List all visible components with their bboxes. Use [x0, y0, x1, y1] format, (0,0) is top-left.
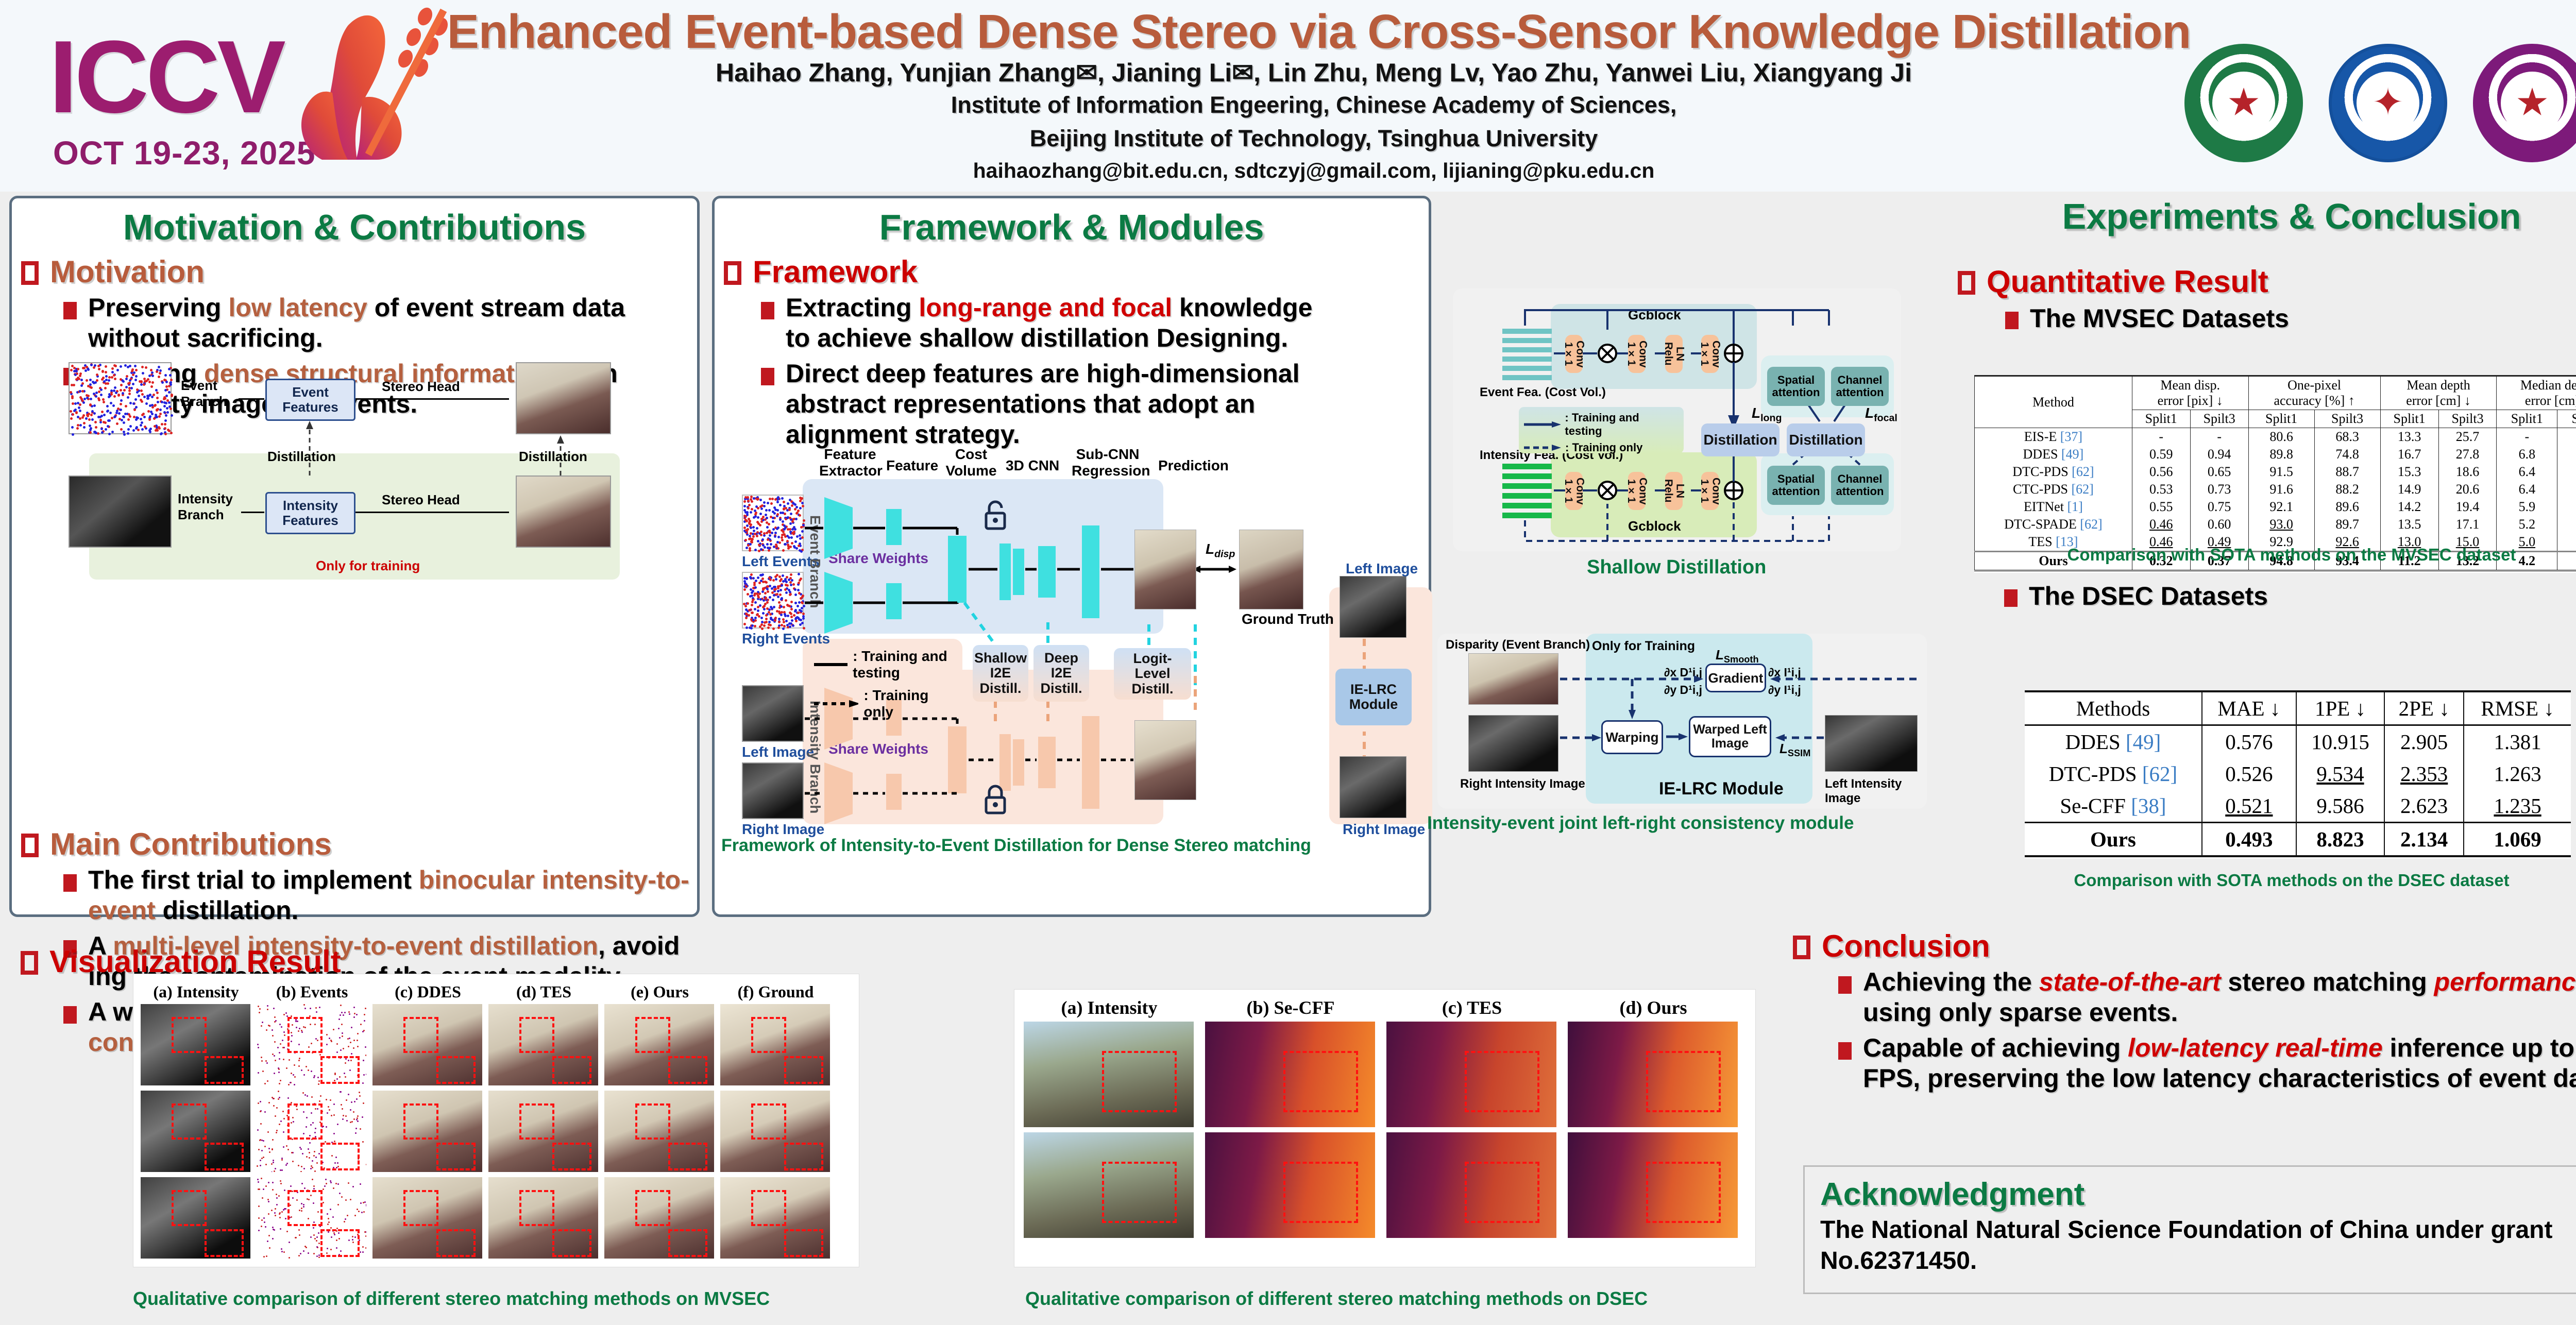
- vis-thumbnail: [141, 1004, 250, 1085]
- op-conv2-bottom: Conv 1×1: [1628, 472, 1646, 510]
- vis-thumbnail: [372, 1004, 482, 1085]
- cell-method: Ours: [2025, 823, 2202, 857]
- vis-column-label: (d) Ours: [1568, 997, 1739, 1018]
- bullet-square-icon: [1838, 976, 1852, 994]
- highlight-box: [1102, 1162, 1177, 1223]
- cell-value: 0.526: [2202, 758, 2296, 790]
- channel-attention-bottom: Channel attention: [1831, 466, 1889, 505]
- sub-split1: Split1: [2497, 410, 2557, 428]
- cell-value: 15.3: [2380, 463, 2438, 481]
- cell-value: 19.4: [2438, 498, 2497, 516]
- cell-value: 5.2: [2497, 516, 2557, 533]
- loss-long-label: Llong: [1752, 405, 1782, 424]
- dashed-arrow-icon: [814, 700, 858, 708]
- list-item: Capable of achieving low-latency real-ti…: [1838, 1033, 2576, 1094]
- cell-value: 68.3: [2314, 428, 2380, 446]
- vis-column-label: (b) Events: [257, 982, 367, 1001]
- vis-column-label: (a) Intensity: [1024, 997, 1195, 1018]
- cell-value: 13.3: [2380, 428, 2438, 446]
- affiliation-line-2: Beijing Institute of Technology, Tsinghu…: [670, 125, 1958, 152]
- framework-legend: : Training and testing : Training only: [814, 648, 958, 720]
- cell-value: 1.381: [2464, 725, 2571, 758]
- sub-split1: Split1: [2380, 410, 2438, 428]
- vis-thumbnail: [1205, 1022, 1375, 1127]
- cell-value: 17.1: [2438, 516, 2497, 533]
- solid-arrow-icon: [814, 660, 848, 669]
- bullet-square-icon: [63, 1006, 77, 1024]
- col-one-pixel: One-pixelaccuracy [%] ↑: [2248, 376, 2380, 410]
- highlight-box: [320, 1229, 360, 1257]
- cell-value: 0.75: [2190, 498, 2248, 516]
- highlight-box: [287, 1103, 323, 1140]
- highlight-box: [287, 1017, 323, 1053]
- shallow-distillation-diagram: Gcblock Gcblock: [1453, 288, 1901, 582]
- ground-truth-thumbnail: [1239, 530, 1303, 609]
- vis-thumbnail: [604, 1004, 714, 1085]
- cell-value: 88.2: [2314, 481, 2380, 498]
- pred-intensity-thumbnail: [1134, 720, 1196, 800]
- conclusion-bullets: Achieving the state-of-the-art stereo ma…: [1838, 967, 2576, 1094]
- cell-value: 10.915: [2296, 725, 2384, 758]
- vis-thumbnail: [488, 1004, 598, 1085]
- highlight-box: [635, 1190, 670, 1226]
- highlight-box: [320, 1143, 360, 1170]
- lock-open-icon: [982, 499, 1009, 531]
- cell-value: 5.9: [2497, 498, 2557, 516]
- vis-thumbnail: [257, 1177, 366, 1259]
- cell-value: 14.2: [2380, 498, 2438, 516]
- table-row: DDES [49]0.57610.9152.9051.381: [2025, 725, 2571, 758]
- vis-thumbnail: [1568, 1022, 1738, 1127]
- ielrc-diagram: Disparity (Event Branch) Right Intensity…: [1437, 634, 1927, 850]
- cell-value: 8.823: [2296, 823, 2384, 857]
- conclusion-section-header: Conclusion: [1793, 928, 2576, 964]
- cell-value: -: [2132, 428, 2190, 446]
- vis-thumbnail: [141, 1177, 250, 1259]
- cell-value: -: [2190, 428, 2248, 446]
- mvsec-results-table: Method Mean disp.error [pix] ↓ One-pixel…: [1974, 375, 2576, 573]
- table-row: EITNet [1]0.550.7592.189.614.219.45.910.…: [1975, 498, 2576, 516]
- distillation-label-right: Distillation: [519, 449, 587, 465]
- col-2pe: 2PE ↓: [2384, 691, 2464, 725]
- bullet-square-icon: [63, 302, 77, 319]
- highlight-box: [287, 1190, 323, 1226]
- motivation-contributions-panel: Motivation & Contributions Motivation Pr…: [9, 196, 700, 917]
- highlight-box: [519, 1017, 554, 1053]
- sub-split1: Split1: [2132, 410, 2190, 428]
- module-logit-level: Logit-Level Distill.: [1114, 648, 1191, 700]
- op-conv3-top: Conv 1×1: [1701, 335, 1719, 373]
- highlight-box: [205, 1056, 244, 1084]
- highlight-box: [751, 1103, 786, 1140]
- cell-value: 0.73: [2190, 481, 2248, 498]
- highlight-box: [436, 1143, 476, 1170]
- cell-value: 6.4: [2497, 463, 2557, 481]
- distillation-box-focal: Distillation: [1787, 423, 1865, 456]
- op-lnrelu-top: LN Relu: [1665, 335, 1683, 373]
- vis-column-label: (b) Se-CFF: [1205, 997, 1376, 1018]
- author-list: Haihao Zhang, Yunjian Zhang✉, Jianing Li…: [670, 58, 1958, 88]
- cell-value: 91.5: [2248, 463, 2314, 481]
- framework-bullets: Extracting long-range and focal knowledg…: [761, 293, 1343, 450]
- highlight-box: [403, 1103, 438, 1140]
- sub-split1: Split1: [2248, 410, 2314, 428]
- channel-attention-top: Channel attention: [1831, 367, 1889, 406]
- cell-value: 2.623: [2384, 790, 2464, 823]
- cell-value: 1.069: [2464, 823, 2571, 857]
- op-conv1-bottom: Conv 1×1: [1565, 472, 1583, 510]
- motivation-figure: EventBranch Event Features Stereo Head I…: [63, 353, 671, 595]
- highlight-box: [1465, 1051, 1539, 1112]
- cell-value: 0.65: [2190, 463, 2248, 481]
- dashed-arrow-icon: [1524, 444, 1561, 451]
- dsec-visualization-caption: Qualitative comparison of different ster…: [1025, 1288, 1648, 1310]
- motivation-section-header: Motivation: [21, 254, 697, 290]
- mid-panel-heading: Framework & Modules: [715, 198, 1429, 248]
- cell-value: 0.55: [2132, 498, 2190, 516]
- prediction-thumbnail: [1134, 530, 1196, 609]
- table-row: DTC-SPADE [62]0.460.6093.089.713.517.15.…: [1975, 516, 2576, 533]
- ielrc-right-image-thumb: [1340, 756, 1406, 818]
- legend-label-training-only: : Training only: [1565, 441, 1642, 454]
- cell-value: 80.6: [2248, 428, 2314, 446]
- vis-thumbnail: [372, 1091, 482, 1172]
- op-conv1-top: Conv 1×1: [1565, 335, 1583, 373]
- distillation-label-left: Distillation: [267, 449, 336, 465]
- highlight-box: [1283, 1162, 1358, 1223]
- legend-label-training-testing: : Training and testing: [853, 648, 958, 681]
- cas-logo: ✦: [2329, 44, 2447, 162]
- vis-thumbnail: [720, 1177, 830, 1259]
- vis-thumbnail: [1386, 1022, 1556, 1127]
- cell-value: 88.7: [2314, 463, 2380, 481]
- ielrc-right-image-label: Right Image: [1343, 821, 1425, 838]
- highlight-box: [172, 1017, 207, 1053]
- bullet-square-icon: [761, 302, 774, 319]
- sub-spilt3: Spilt3: [2190, 410, 2248, 428]
- square-marker-icon: [724, 261, 741, 285]
- highlight-box: [668, 1056, 708, 1084]
- framework-figure-caption: Framework of Intensity-to-Event Distilla…: [721, 836, 1311, 856]
- vis-column-label: (c) TES: [1386, 997, 1557, 1018]
- vis-column-label: (e) Ours: [604, 982, 715, 1001]
- module-shallow-i2e: Shallow I2E Distill.: [973, 645, 1028, 702]
- square-marker-icon: [21, 951, 38, 975]
- vis-thumbnail: [488, 1091, 598, 1172]
- table-row: CTC-PDS [62]0.530.7391.688.214.920.66.41…: [1975, 481, 2576, 498]
- cell-value: 0.56: [2132, 463, 2190, 481]
- highlight-box: [519, 1103, 554, 1140]
- mvsec-subtitle-row: The MVSEC Datasets: [2005, 303, 2576, 334]
- cell-value: 89.7: [2314, 516, 2380, 533]
- cell-value: 13.5: [2380, 516, 2438, 533]
- cell-value: 0.46: [2132, 516, 2190, 533]
- cell-value: 9.586: [2296, 790, 2384, 823]
- poster-header: ICCV OCT 19-23, 2025 Enhanced Event-base…: [0, 0, 2576, 192]
- highlight-box: [1102, 1051, 1177, 1112]
- highlight-box: [635, 1103, 670, 1140]
- bit-logo: ★: [2184, 44, 2303, 162]
- cell-method: Se-CFF [38]: [2025, 790, 2202, 823]
- cell-value: 6.8: [2497, 446, 2557, 463]
- cell-value: 6.4: [2497, 481, 2557, 498]
- cell-method: EITNet [1]: [1975, 498, 2132, 516]
- cell-value: 0.60: [2190, 516, 2248, 533]
- vis-column-label: (d) TES: [488, 982, 599, 1001]
- lock-closed-icon: [982, 783, 1009, 815]
- framework-diagram: FeatureExtractor Feature CostVolume 3D C…: [742, 443, 1432, 850]
- table-row: EIS-E [37]--80.668.313.325.7--: [1975, 428, 2576, 446]
- highlight-box: [751, 1190, 786, 1226]
- mvsec-subtitle: The MVSEC Datasets: [2030, 303, 2289, 334]
- cell-method: DTC-PDS [62]: [1975, 463, 2132, 481]
- framework-section-header: Framework: [724, 254, 1429, 290]
- vis-thumbnail: [257, 1004, 366, 1085]
- cell-value: 2.353: [2384, 758, 2464, 790]
- loss-disp-label: Ldisp: [1206, 541, 1235, 560]
- highlight-box: [205, 1229, 244, 1257]
- motivation-title: Motivation: [50, 254, 205, 290]
- highlight-box: [1646, 1051, 1721, 1112]
- cell-value: 1.235: [2464, 790, 2571, 823]
- vis-thumbnail: [720, 1091, 830, 1172]
- highlight-box: [436, 1056, 476, 1084]
- list-item: Extracting long-range and focal knowledg…: [761, 293, 1343, 353]
- cell-value: 0.53: [2132, 481, 2190, 498]
- cell-value: -: [2497, 428, 2557, 446]
- cell-value: 1.263: [2464, 758, 2571, 790]
- vis-thumbnail: [257, 1091, 366, 1172]
- vis-thumbnail: [1024, 1022, 1194, 1127]
- cell-value: 89.8: [2248, 446, 2314, 463]
- op-lnrelu-bottom: LN Relu: [1665, 472, 1683, 510]
- acknowledgment-body: The National Natural Science Foundation …: [1820, 1215, 2576, 1277]
- bullet-square-icon: [761, 368, 774, 385]
- highlight-box: [403, 1190, 438, 1226]
- ielrc-figure-caption: Intensity-event joint left-right consist…: [1427, 813, 1854, 834]
- solid-arrow-icon: [1524, 421, 1561, 428]
- highlight-box: [519, 1190, 554, 1226]
- ground-truth-label: Ground Truth: [1242, 611, 1334, 627]
- module-ie-lrc: IE-LRC Module: [1335, 669, 1412, 725]
- vis-thumbnail: [488, 1177, 598, 1259]
- cell-value: 0.576: [2202, 725, 2296, 758]
- cell-value: 10.4: [2557, 498, 2576, 516]
- highlight-box: [784, 1143, 824, 1170]
- cell-value: 92.1: [2248, 498, 2314, 516]
- affiliation-line-1: Institute of Information Engeering, Chin…: [670, 92, 1958, 118]
- framework-title: Framework: [753, 254, 918, 290]
- cell-value: 0.493: [2202, 823, 2296, 857]
- cell-value: 27.8: [2438, 446, 2497, 463]
- cell-method: DTC-SPADE [62]: [1975, 516, 2132, 533]
- cell-method: DTC-PDS [62]: [2025, 758, 2202, 790]
- contact-emails: haihaozhang@bit.edu.cn, sdtczyj@gmail.co…: [670, 159, 1958, 183]
- vis-thumbnail: [720, 1004, 830, 1085]
- vis-thumbnail: [1024, 1132, 1194, 1238]
- vis-column-label: (c) DDES: [372, 982, 483, 1001]
- cell-method: DDES [49]: [1975, 446, 2132, 463]
- ielrc-left-image-label: Left Image: [1346, 560, 1418, 577]
- square-marker-icon: [21, 834, 39, 857]
- highlight-box: [552, 1056, 592, 1084]
- highlight-box: [784, 1056, 824, 1084]
- table-row: DTC-PDS [62]0.5269.5342.3531.263: [2025, 758, 2571, 790]
- shallow-figure-caption: Shallow Distillation: [1587, 556, 1766, 579]
- ielrc-module-title: IE-LRC Module: [1659, 779, 1784, 799]
- mvsec-visualization-caption: Qualitative comparison of different ster…: [133, 1288, 770, 1310]
- cell-method: CTC-PDS [62]: [1975, 481, 2132, 498]
- module-deep-i2e: Deep I2E Distill.: [1033, 645, 1089, 702]
- conclusion-block: Conclusion Achieving the state-of-the-ar…: [1793, 922, 2576, 1099]
- highlight-box: [436, 1229, 476, 1257]
- list-item: The first trial to implement binocular i…: [63, 865, 697, 926]
- col-mean-depth: Mean deptherror [cm] ↓: [2380, 376, 2497, 410]
- highlight-box: [668, 1229, 708, 1257]
- col-methods: Methods: [2025, 691, 2202, 725]
- dsec-subtitle: The DSEC Datasets: [2029, 581, 2268, 611]
- dsec-table-caption: Comparison with SOTA methods on the DSEC…: [1953, 871, 2576, 890]
- cell-value: 7.9: [2557, 516, 2576, 533]
- left-panel-heading: Motivation & Contributions: [12, 198, 697, 248]
- highlight-box: [320, 1056, 360, 1084]
- bullet-square-icon: [2004, 589, 2018, 607]
- highlight-box: [668, 1143, 708, 1170]
- shallow-input-top-label: Event Fea. (Cost Vol.): [1480, 385, 1606, 400]
- table-header-row: Method Mean disp.error [pix] ↓ One-pixel…: [1975, 376, 2576, 410]
- quantitative-title: Quantitative Result: [1987, 264, 2268, 299]
- right-panel-heading: Experiments & Conclusion: [1953, 196, 2576, 237]
- cell-value: 16.7: [2380, 446, 2438, 463]
- contributions-title: Main Contributions: [50, 826, 332, 862]
- list-item: Preserving low latency of event stream d…: [63, 293, 697, 353]
- highlight-box: [751, 1017, 786, 1053]
- cell-value: 20.6: [2438, 481, 2497, 498]
- highlight-box: [1646, 1162, 1721, 1223]
- cell-value: 14.7: [2557, 446, 2576, 463]
- highlight-box: [172, 1103, 207, 1140]
- dsec-visualization-grid: (a) Intensity(b) Se-CFF(c) TES(d) Ours: [1014, 989, 1756, 1267]
- cell-value: 8.7: [2557, 463, 2576, 481]
- table-header-row: Methods MAE ↓ 1PE ↓ 2PE ↓ RMSE ↓: [2025, 691, 2571, 725]
- col-rmse: RMSE ↓: [2464, 691, 2571, 725]
- contributions-section-header: Main Contributions: [21, 826, 697, 862]
- cell-value: 93.0: [2248, 516, 2314, 533]
- cell-value: 9.534: [2296, 758, 2384, 790]
- table-row: Ours0.4938.8232.1341.069: [2025, 823, 2571, 857]
- square-marker-icon: [1958, 271, 1975, 295]
- highlight-box: [1283, 1051, 1358, 1112]
- only-for-training-label: Only for training: [316, 558, 420, 574]
- quantitative-section-header: Quantitative Result: [1958, 264, 2576, 299]
- legend-label-training-testing: : Training and testing: [1565, 411, 1679, 438]
- op-conv2-top: Conv 1×1: [1628, 335, 1646, 373]
- col-method: Method: [1975, 376, 2132, 428]
- highlight-box: [403, 1017, 438, 1053]
- cell-value: 0.94: [2190, 446, 2248, 463]
- table-row: Se-CFF [38]0.5219.5862.6231.235: [2025, 790, 2571, 823]
- op-conv3-bottom: Conv 1×1: [1701, 472, 1719, 510]
- table-row: DTC-PDS [62]0.560.6591.588.715.318.66.48…: [1975, 463, 2576, 481]
- vis-thumbnail: [604, 1177, 714, 1259]
- cell-value: 2.905: [2384, 725, 2464, 758]
- list-item: Direct deep features are high-dimensiona…: [761, 359, 1343, 450]
- mvsec-visualization-grid: (a) Intensity(b) Events(c) DDES(d) TES(e…: [133, 974, 859, 1267]
- page-title: Enhanced Event-based Dense Stereo via Cr…: [443, 4, 2195, 59]
- highlight-box: [1465, 1162, 1539, 1223]
- cell-value: -: [2557, 428, 2576, 446]
- shallow-legend: : Training and testing : Training only: [1519, 407, 1684, 453]
- square-marker-icon: [1793, 936, 1810, 959]
- cell-method: EIS-E [37]: [1975, 428, 2132, 446]
- cell-value: 14.9: [2380, 481, 2438, 498]
- iccv-wordmark: ICCV: [49, 26, 283, 129]
- sub-spilt3: Spilt3: [2314, 410, 2380, 428]
- dsec-subtitle-row: The DSEC Datasets: [2004, 581, 2268, 611]
- sub-spilt3: Spilt3: [2557, 410, 2576, 428]
- acknowledgment-box: Acknowledgment The National Natural Scie…: [1803, 1165, 2576, 1294]
- cell-method: DDES [49]: [2025, 725, 2202, 758]
- mvsec-table-caption: Comparison with SOTA methods on the MVSE…: [1953, 545, 2576, 565]
- highlight-box: [552, 1143, 592, 1170]
- col-mae: MAE ↓: [2202, 691, 2296, 725]
- vis-thumbnail: [1386, 1132, 1556, 1238]
- bullet-square-icon: [2005, 312, 2019, 329]
- cell-value: 89.6: [2314, 498, 2380, 516]
- highlight-box: [552, 1229, 592, 1257]
- distillation-box-long: Distillation: [1701, 423, 1780, 456]
- university-logos: ★ ✦ ★: [2184, 41, 2576, 170]
- highlight-box: [635, 1017, 670, 1053]
- col-1pe: 1PE ↓: [2296, 691, 2384, 725]
- cell-value: 0.59: [2132, 446, 2190, 463]
- hibiscus-flower-icon: [270, 5, 456, 175]
- table-row: DDES [49]0.590.9489.874.816.727.86.814.7: [1975, 446, 2576, 463]
- col-median-depth: Median deptherror [cm] ↓: [2497, 376, 2576, 410]
- vis-thumbnail: [1568, 1132, 1738, 1238]
- spatial-attention-bottom: Spatial attention: [1767, 466, 1825, 505]
- vis-thumbnail: [1205, 1132, 1375, 1238]
- cell-value: 25.7: [2438, 428, 2497, 446]
- legend-label-training-only: : Training only: [863, 687, 958, 720]
- highlight-box: [205, 1143, 244, 1170]
- bullet-square-icon: [63, 874, 77, 892]
- vis-thumbnail: [604, 1091, 714, 1172]
- vis-column-label: (a) Intensity: [141, 982, 251, 1001]
- cell-value: 0.521: [2202, 790, 2296, 823]
- cell-value: 74.8: [2314, 446, 2380, 463]
- acknowledgment-title: Acknowledgment: [1820, 1176, 2576, 1213]
- highlight-box: [172, 1190, 207, 1226]
- cell-value: 91.6: [2248, 481, 2314, 498]
- vis-thumbnail: [372, 1177, 482, 1259]
- ielrc-left-image-thumb: [1340, 576, 1406, 638]
- spatial-attention-top: Spatial attention: [1767, 367, 1825, 406]
- loss-focal-label: Lfocal: [1865, 405, 1897, 424]
- vis-thumbnail: [141, 1091, 250, 1172]
- square-marker-icon: [21, 261, 39, 285]
- list-item: Achieving the state-of-the-art stereo ma…: [1838, 967, 2576, 1028]
- sub-spilt3: Spilt3: [2438, 410, 2497, 428]
- cell-value: 2.134: [2384, 823, 2464, 857]
- highlight-box: [784, 1229, 824, 1257]
- cell-value: 18.6: [2438, 463, 2497, 481]
- conclusion-title: Conclusion: [1822, 928, 1990, 964]
- col-mean-disp: Mean disp.error [pix] ↓: [2132, 376, 2248, 410]
- bullet-square-icon: [1838, 1042, 1852, 1060]
- cell-value: 10.6: [2557, 481, 2576, 498]
- dsec-results-table: Methods MAE ↓ 1PE ↓ 2PE ↓ RMSE ↓ DDES [4…: [2025, 690, 2571, 858]
